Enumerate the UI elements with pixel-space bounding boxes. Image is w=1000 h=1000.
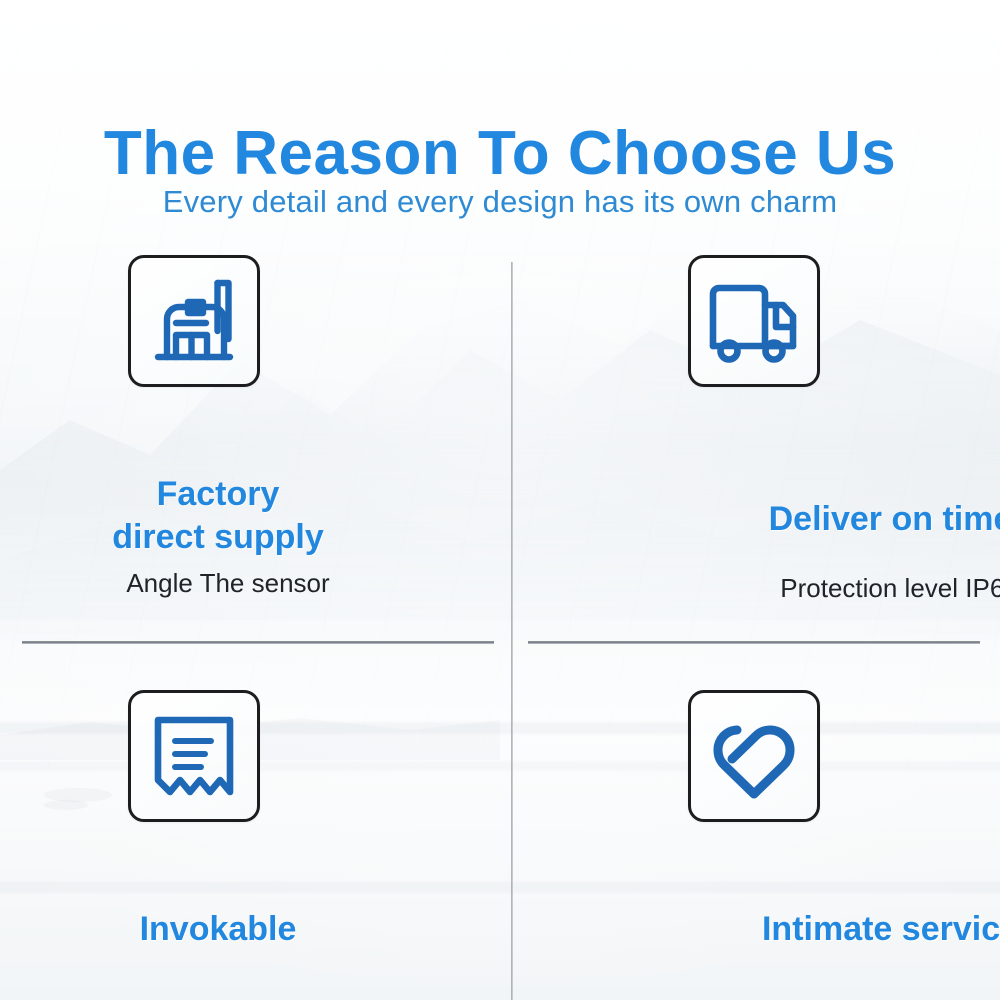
horizontal-divider-left: [22, 641, 494, 644]
icon-frame-factory: [128, 255, 260, 387]
feature-subtitle-factory: Angle The sensor: [0, 568, 456, 599]
delivery-truck-icon: [702, 269, 806, 373]
feature-title-invokable: Invokable: [0, 908, 436, 951]
feature-card-deliver-on-time[interactable]: Deliver on time Protection level IP67: [513, 255, 1000, 641]
promo-poster: The Reason To Choose Us Every detail and…: [0, 0, 1000, 1000]
icon-frame-heart: [688, 690, 820, 822]
receipt-invoice-icon: [142, 704, 246, 808]
feature-card-factory-direct-supply[interactable]: Factory direct supply Angle The sensor: [0, 255, 511, 641]
icon-frame-truck: [688, 255, 820, 387]
feature-title-line1: Factory: [157, 475, 280, 513]
feature-title-deliver: Deliver on time: [513, 498, 1000, 541]
feature-title-factory: Factory direct supply: [0, 473, 436, 559]
factory-icon: [142, 269, 246, 373]
feature-card-intimate-service[interactable]: Intimate service: [513, 690, 1000, 1000]
feature-card-invokable[interactable]: Invokable: [0, 690, 511, 1000]
icon-frame-receipt: [128, 690, 260, 822]
feature-subtitle-deliver: Protection level IP67: [513, 573, 1000, 604]
page-subtitle: Every detail and every design has its ow…: [0, 184, 1000, 220]
feature-title-intimate: Intimate service: [513, 908, 1000, 951]
heart-icon: [702, 704, 806, 808]
page-title: The Reason To Choose Us: [0, 118, 1000, 189]
feature-title-line2: direct supply: [112, 518, 324, 556]
horizontal-divider-right: [528, 641, 980, 644]
